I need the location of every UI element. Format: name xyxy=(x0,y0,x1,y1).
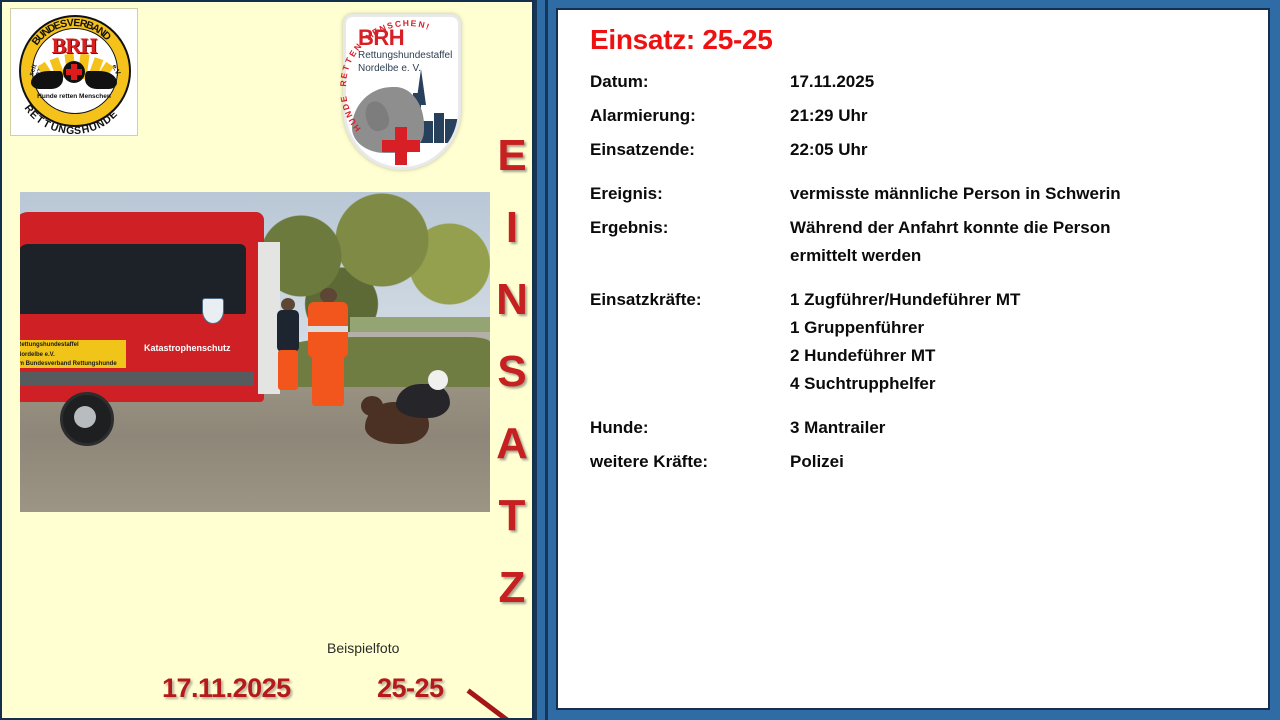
logo-motto: Hunde retten Menschen xyxy=(11,93,137,101)
deployment-photo: Rettungshundestaffel Nordelbe e.V. im Bu… xyxy=(20,192,490,512)
photo-grass-verge xyxy=(270,337,490,387)
photo-caption: Beispielfoto xyxy=(327,640,399,656)
detail-row: Ergebnis:Während der Anfahrt konnte die … xyxy=(590,218,1252,238)
van-yellow-decal: Rettungshundestaffel Nordelbe e.V. im Bu… xyxy=(20,340,126,368)
detail-value: 21:29 Uhr xyxy=(790,106,867,126)
search-dog xyxy=(396,384,450,418)
detail-value: ermittelt werden xyxy=(790,246,921,266)
red-cross-icon xyxy=(63,61,85,83)
detail-value: 4 Suchtrupphelfer xyxy=(790,374,935,394)
detail-label: Hunde: xyxy=(590,418,790,438)
nordelbe-curved-motto: HU ND E RE TT EN M EN SC HE N! xyxy=(335,6,475,186)
rescue-van: Rettungshundestaffel Nordelbe e.V. im Bu… xyxy=(20,212,264,402)
vertical-einsatz-word: E I N S A T Z xyxy=(489,120,534,624)
detail-row: 1 Gruppenführer xyxy=(590,318,1252,338)
van-lower-stripe xyxy=(20,372,254,386)
van-decal-line2: Nordelbe e.V. xyxy=(20,350,126,360)
detail-row: Hunde:3 Mantrailer xyxy=(590,418,1252,438)
einsatz-letter: T xyxy=(489,480,534,552)
detail-label: Ergebnis: xyxy=(590,218,790,238)
detail-row: weitere Kräfte: Polizei xyxy=(590,452,1252,472)
detail-label: Einsatzende: xyxy=(590,140,790,160)
row-spacer xyxy=(590,280,1252,290)
detail-row: 2 Hundeführer MT xyxy=(590,346,1252,366)
einsatz-letter: S xyxy=(489,336,534,408)
detail-row: Datum:17.11.2025 xyxy=(590,72,1252,92)
detail-value: 2 Hundeführer MT xyxy=(790,346,935,366)
dog-silhouette-icon xyxy=(85,71,117,89)
detail-label: Ereignis: xyxy=(590,184,790,204)
van-emblem-icon xyxy=(202,298,224,324)
detail-row: Einsatzkräfte:1 Zugführer/Hundeführer MT xyxy=(590,290,1252,310)
details-card: Einsatz: 25-25 Datum:17.11.2025Alarmieru… xyxy=(556,8,1270,710)
detail-label: Alarmierung: xyxy=(590,106,790,126)
detail-row: Einsatzende:22:05 Uhr xyxy=(590,140,1252,160)
logo-initials: BRH xyxy=(11,33,137,59)
detail-row: 4 Suchtrupphelfer xyxy=(590,374,1252,394)
detail-label: Datum: xyxy=(590,72,790,92)
detail-value: 3 Mantrailer xyxy=(790,418,885,438)
panel-divider xyxy=(534,0,548,720)
detail-row: ermittelt werden xyxy=(590,246,1252,266)
right-panel: Einsatz: 25-25 Datum:17.11.2025Alarmieru… xyxy=(548,0,1280,720)
einsatz-letter: E xyxy=(489,120,534,192)
dog-silhouette-icon xyxy=(31,71,63,89)
detail-value: 22:05 Uhr xyxy=(790,140,867,160)
row-spacer xyxy=(590,408,1252,418)
van-decal-line3: im Bundesverband Rettungshunde xyxy=(20,359,126,369)
diagonal-line-decoration xyxy=(472,662,534,720)
details-rows: Datum:17.11.2025Alarmierung:21:29 UhrEin… xyxy=(590,72,1252,486)
detail-label: weitere Kräfte: xyxy=(590,452,790,472)
brh-nordelbe-logo: BRH Rettungshundestaffel Nordelbe e. V. … xyxy=(335,6,475,186)
detail-row: Ereignis:vermisste männliche Person in S… xyxy=(590,184,1252,204)
einsatz-letter: Z xyxy=(489,552,534,624)
einsatz-letter: A xyxy=(489,408,534,480)
rescuer-person xyxy=(308,288,348,410)
detail-value: vermisste männliche Person in Schwerin xyxy=(790,184,1121,204)
footer-operation-number: 25-25 xyxy=(377,673,444,704)
poster: BU ND ES VE RB AN D RE TT UN GS HU ND E … xyxy=(0,0,1280,720)
brh-bundesverband-logo: BU ND ES VE RB AN D RE TT UN GS HU ND E … xyxy=(10,8,138,136)
footer-date: 17.11.2025 xyxy=(162,673,291,704)
detail-value: Während der Anfahrt konnte die Person xyxy=(790,218,1111,238)
detail-value: 1 Gruppenführer xyxy=(790,318,924,338)
detail-value: Polizei xyxy=(790,452,844,472)
detail-row: Alarmierung:21:29 Uhr xyxy=(590,106,1252,126)
left-panel: BU ND ES VE RB AN D RE TT UN GS HU ND E … xyxy=(0,0,534,720)
detail-value: 1 Zugführer/Hundeführer MT xyxy=(790,290,1020,310)
detail-value: 17.11.2025 xyxy=(790,72,874,92)
van-decal-line1: Rettungshundestaffel xyxy=(20,340,126,350)
row-spacer xyxy=(590,174,1252,184)
detail-label: Einsatzkräfte: xyxy=(590,290,790,310)
van-wheel xyxy=(60,392,114,446)
page-title: Einsatz: 25-25 xyxy=(590,24,773,56)
van-label: Katastrophenschutz xyxy=(144,343,231,353)
einsatz-letter: I xyxy=(489,192,534,264)
rescuer-person xyxy=(276,298,300,396)
einsatz-letter: N xyxy=(489,264,534,336)
